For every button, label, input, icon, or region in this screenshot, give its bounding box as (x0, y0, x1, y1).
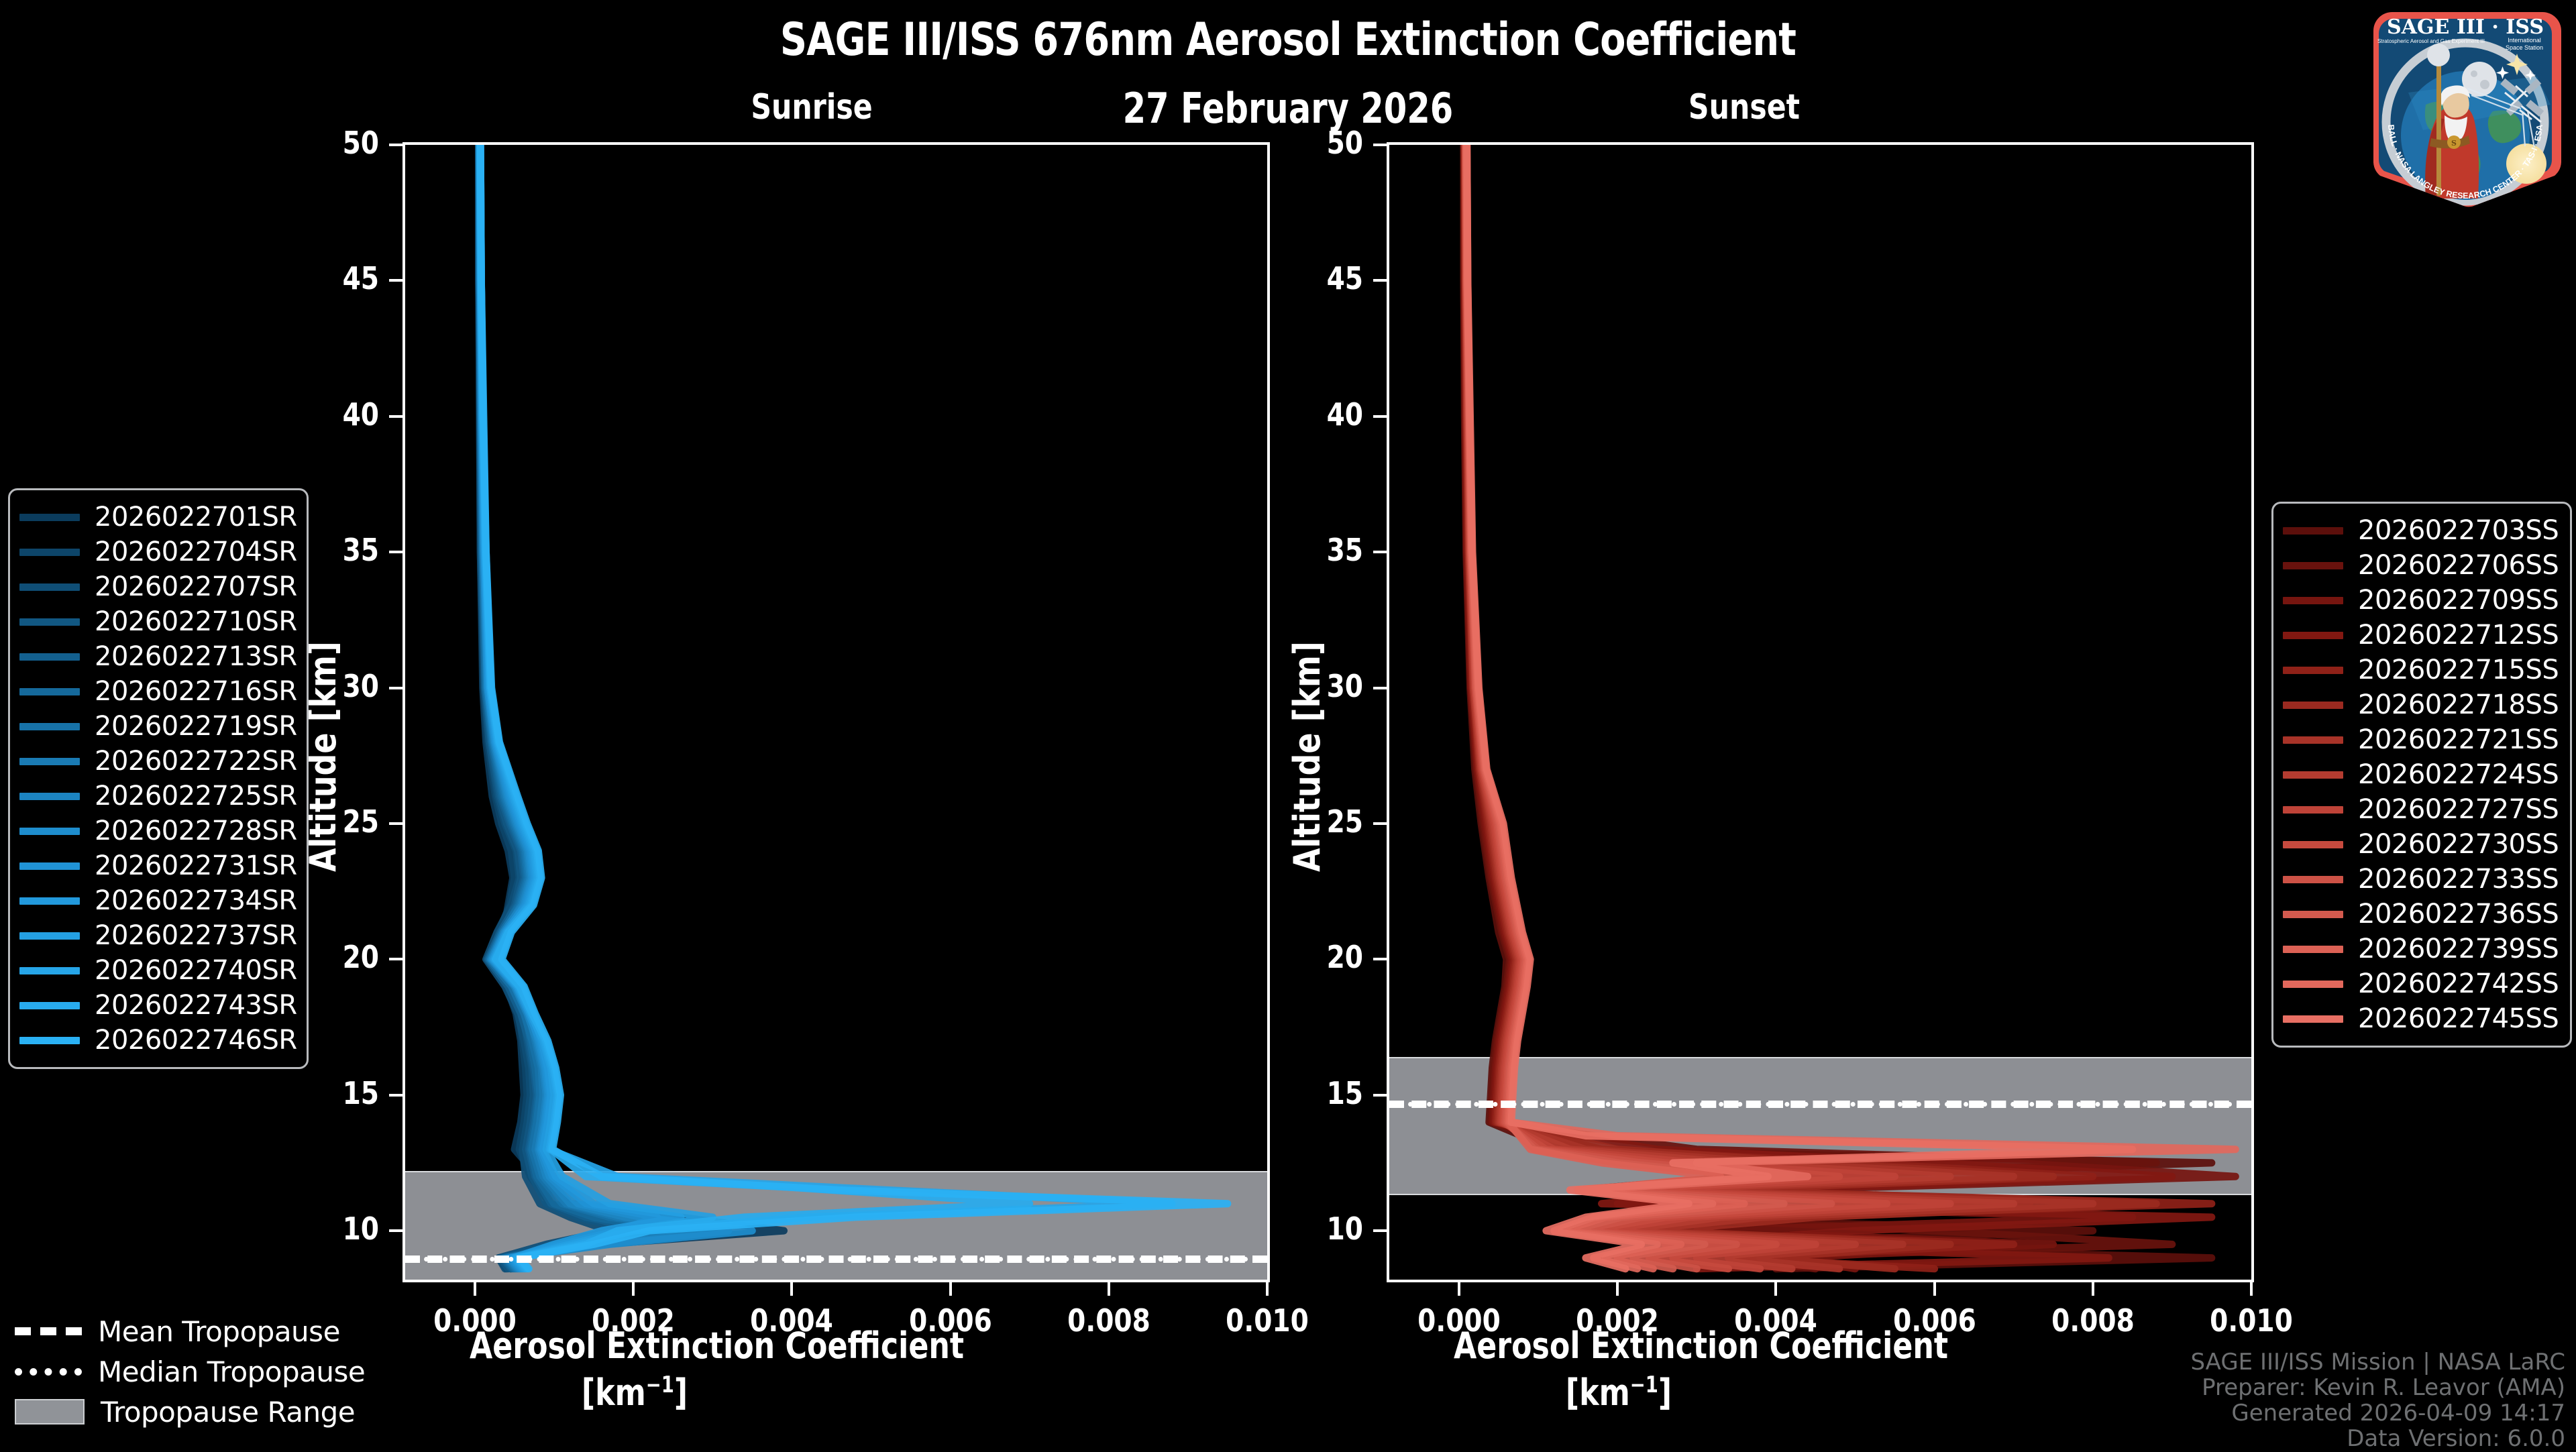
x-tick-label: 0.010 (1193, 1302, 1342, 1339)
y-tick-mark (389, 551, 402, 553)
legend-label-sunrise-event: 2026022719SR (95, 711, 297, 742)
profile-line (480, 145, 697, 1269)
legend-color-swatch (2283, 876, 2343, 883)
legend-color-swatch (19, 932, 80, 940)
sage-staff (2436, 58, 2441, 196)
legend-color-swatch (19, 688, 80, 695)
y-tick-label: 45 (1269, 260, 1363, 296)
footer-line-data-version: Data Version: 6.0.0 (2190, 1426, 2565, 1451)
legend-label-sunset-event: 2026022715SS (2358, 655, 2559, 685)
y-tick-mark (1373, 415, 1387, 418)
legend-item-sunrise-event[interactable]: 2026022719SR (19, 709, 293, 744)
page-title: SAGE III/ISS 676nm Aerosol Extinction Co… (232, 13, 2345, 66)
legend-label-sunrise-event: 2026022740SR (95, 955, 297, 986)
legend-item-sunset-event[interactable]: 2026022727SS (2283, 792, 2557, 827)
x-tick-label: 0.008 (2019, 1302, 2167, 1339)
legend-color-swatch (19, 758, 80, 765)
unit-prefix: [km (582, 1372, 646, 1414)
y-tick-mark (1373, 958, 1387, 960)
patch-title: SAGE III · ISS (2387, 15, 2544, 39)
median-tropopause-line (1389, 1102, 2251, 1107)
x-tick-mark (1616, 1282, 1619, 1296)
y-tick-mark (1373, 551, 1387, 553)
legend-label-sunset-event: 2026022721SS (2358, 724, 2559, 755)
legend-label-sunset-event: 2026022733SS (2358, 864, 2559, 895)
legend-item-sunrise-event[interactable]: 2026022704SR (19, 535, 293, 569)
legend-item-mean-tropopause: Mean Tropopause (15, 1311, 390, 1351)
legend-color-swatch (2283, 911, 2343, 918)
legend-label-sunrise-event: 2026022728SR (95, 816, 297, 846)
svg-text:S: S (2451, 139, 2457, 148)
x-tick-mark (1774, 1282, 1777, 1296)
legend-item-sunrise-event[interactable]: 2026022740SR (19, 953, 293, 988)
y-tick-mark (389, 415, 402, 418)
legend-color-swatch (2283, 1015, 2343, 1023)
y-tick-label: 40 (285, 396, 379, 433)
x-tick-mark (1458, 1282, 1460, 1296)
y-tick-mark (1373, 144, 1387, 146)
x-tick-mark (2092, 1282, 2094, 1296)
x-axis-label-sunrise: Aerosol Extinction Coefficient (470, 1325, 800, 1367)
legend-color-swatch (19, 1002, 80, 1009)
legend-sunrise[interactable]: 2026022701SR2026022704SR2026022707SR2026… (8, 488, 309, 1069)
legend-label-sunrise-event: 2026022734SR (95, 885, 297, 916)
legend-item-sunset-event[interactable]: 2026022724SS (2283, 757, 2557, 792)
x-tick-mark (1266, 1282, 1269, 1296)
x-tick-mark (949, 1282, 952, 1296)
median-tropopause-line (405, 1257, 1267, 1262)
dotted-line-icon (15, 1368, 82, 1376)
legend-item-sunset-event[interactable]: 2026022739SS (2283, 932, 2557, 966)
profile-line (480, 145, 729, 1269)
x-tick-mark (1108, 1282, 1110, 1296)
patch-subtitle-right-1: International (2508, 37, 2541, 44)
legend-label-sunrise-event: 2026022725SR (95, 781, 297, 812)
y-tick-label: 15 (285, 1075, 379, 1111)
profile-line (480, 145, 657, 1269)
x-tick-mark (2250, 1282, 2253, 1296)
legend-color-swatch (2283, 562, 2343, 569)
y-axis-label-sunset: Altitude [km] (1286, 641, 1328, 872)
x-axis-unit-sunrise: [km−1] (470, 1372, 800, 1414)
profile-line (480, 145, 712, 1269)
legend-sunset[interactable]: 2026022703SS2026022706SS2026022709SS2026… (2271, 502, 2572, 1048)
legend-label-sunrise-event: 2026022716SR (95, 676, 297, 707)
profile-line (480, 145, 1228, 1269)
shaded-band-icon (15, 1399, 85, 1425)
y-tick-label: 10 (285, 1211, 379, 1247)
legend-item-sunrise-event[interactable]: 2026022725SR (19, 779, 293, 814)
legend-label-sunrise-event: 2026022707SR (95, 571, 297, 602)
footer-line-mission: SAGE III/ISS Mission | NASA LaRC (2190, 1349, 2565, 1375)
legend-item-sunrise-event[interactable]: 2026022731SR (19, 848, 293, 883)
panel-title-sunset: Sunset (1629, 87, 1860, 127)
legend-item-sunset-event[interactable]: 2026022709SS (2283, 583, 2557, 618)
legend-label-sunrise-event: 2026022704SR (95, 537, 297, 567)
plot-area-sunset (1389, 145, 2251, 1280)
y-tick-mark (1373, 1094, 1387, 1097)
unit-prefix: [km (1566, 1372, 1630, 1414)
legend-color-swatch (19, 618, 80, 626)
legend-label-sunrise-event: 2026022722SR (95, 746, 297, 777)
legend-color-swatch (2283, 806, 2343, 814)
moon-crater (2471, 70, 2477, 77)
legend-color-swatch (2283, 667, 2343, 674)
legend-item-sunrise-event[interactable]: 2026022746SR (19, 1023, 293, 1058)
dashed-line-icon (15, 1327, 82, 1335)
legend-label-sunset-event: 2026022730SS (2358, 829, 2559, 860)
legend-item-sunset-event[interactable]: 2026022736SS (2283, 897, 2557, 932)
x-tick-mark (790, 1282, 793, 1296)
legend-color-swatch (19, 1037, 80, 1044)
profile-line (480, 145, 712, 1269)
x-tick-mark (474, 1282, 476, 1296)
unit-exponent: −1 (646, 1372, 674, 1398)
legend-color-swatch (19, 828, 80, 835)
legend-item-sunset-event[interactable]: 2026022706SS (2283, 548, 2557, 583)
legend-item-sunset-event[interactable]: 2026022745SS (2283, 1001, 2557, 1036)
legend-color-swatch (2283, 841, 2343, 848)
legend-label-sunset-event: 2026022703SS (2358, 515, 2559, 546)
legend-item-sunrise-event[interactable]: 2026022734SR (19, 883, 293, 918)
sage-iii-iss-mission-patch-logo: S BALL · NASA LANGLEY RESEARCH CENTER · … (2361, 4, 2569, 212)
legend-item-sunset-event[interactable]: 2026022712SS (2283, 618, 2557, 653)
legend-color-swatch (19, 723, 80, 730)
y-tick-mark (389, 144, 402, 146)
legend-color-swatch (2283, 946, 2343, 953)
legend-color-swatch (2283, 632, 2343, 639)
legend-item-sunrise-event[interactable]: 2026022713SR (19, 639, 293, 674)
y-tick-mark (389, 1229, 402, 1232)
x-tick-mark (1933, 1282, 1936, 1296)
legend-item-sunrise-event[interactable]: 2026022737SR (19, 918, 293, 953)
legend-color-swatch (2283, 736, 2343, 744)
y-tick-label: 35 (1269, 532, 1363, 568)
x-axis-label-sunset: Aerosol Extinction Coefficient (1454, 1325, 1784, 1367)
legend-color-swatch (19, 583, 80, 591)
legend-label-sunset-event: 2026022718SS (2358, 689, 2559, 720)
legend-color-swatch (19, 862, 80, 870)
footer-credits: SAGE III/ISS Mission | NASA LaRC Prepare… (2190, 1349, 2565, 1451)
series-lines (405, 145, 1267, 1280)
legend-item-median-tropopause: Median Tropopause (15, 1351, 390, 1392)
legend-label-median-tropopause: Median Tropopause (98, 1355, 365, 1388)
patch-subtitle-right-2: Space Station (2506, 44, 2543, 51)
y-tick-mark (389, 687, 402, 689)
y-tick-label: 15 (1269, 1075, 1363, 1111)
legend-label-mean-tropopause: Mean Tropopause (98, 1315, 340, 1348)
y-tick-label: 50 (285, 125, 379, 161)
legend-label-sunset-event: 2026022706SS (2358, 550, 2559, 581)
profile-line (480, 145, 681, 1269)
y-tick-label: 20 (1269, 939, 1363, 975)
legend-label-tropopause-range: Tropopause Range (101, 1396, 355, 1429)
plot-panel-sunrise (402, 142, 1270, 1282)
legend-color-swatch (2283, 981, 2343, 988)
legend-label-sunset-event: 2026022712SS (2358, 620, 2559, 651)
plot-panel-sunset (1387, 142, 2254, 1282)
y-tick-mark (1373, 279, 1387, 282)
legend-item-sunset-event[interactable]: 2026022703SS (2283, 513, 2557, 548)
y-tick-label: 45 (285, 260, 379, 296)
legend-color-swatch (2283, 702, 2343, 709)
legend-item-sunset-event[interactable]: 2026022721SS (2283, 722, 2557, 757)
y-tick-mark (1373, 1229, 1387, 1232)
legend-label-sunrise-event: 2026022743SR (95, 990, 297, 1021)
legend-label-sunset-event: 2026022739SS (2358, 934, 2559, 964)
legend-item-sunrise-event[interactable]: 2026022707SR (19, 569, 293, 604)
legend-item-sunrise-event[interactable]: 2026022701SR (19, 500, 293, 535)
legend-item-sunrise-event[interactable]: 2026022716SR (19, 674, 293, 709)
legend-color-swatch (19, 514, 80, 521)
y-tick-mark (389, 1094, 402, 1097)
x-tick-mark (632, 1282, 635, 1296)
legend-label-sunrise-event: 2026022701SR (95, 502, 297, 533)
unit-suffix: ] (674, 1372, 688, 1414)
legend-item-sunrise-event[interactable]: 2026022710SR (19, 604, 293, 639)
y-tick-mark (1373, 822, 1387, 825)
moon-crater (2480, 80, 2489, 89)
legend-item-sunset-event[interactable]: 2026022730SS (2283, 827, 2557, 862)
x-axis-unit-sunset: [km−1] (1454, 1372, 1784, 1414)
legend-label-sunrise-event: 2026022746SR (95, 1025, 297, 1056)
legend-item-sunrise-event[interactable]: 2026022722SR (19, 744, 293, 779)
legend-item-sunset-event[interactable]: 2026022715SS (2283, 653, 2557, 687)
legend-label-sunset-event: 2026022724SS (2358, 759, 2559, 790)
legend-label-sunrise-event: 2026022737SR (95, 920, 297, 951)
unit-exponent: −1 (1630, 1372, 1658, 1398)
legend-item-sunset-event[interactable]: 2026022742SS (2283, 966, 2557, 1001)
series-lines (1389, 145, 2251, 1280)
legend-color-swatch (19, 653, 80, 661)
legend-label-sunrise-event: 2026022710SR (95, 606, 297, 637)
legend-item-sunrise-event[interactable]: 2026022743SR (19, 988, 293, 1023)
legend-item-sunset-event[interactable]: 2026022718SS (2283, 687, 2557, 722)
legend-color-swatch (2283, 597, 2343, 604)
legend-color-swatch (2283, 527, 2343, 535)
footer-line-generated: Generated 2026-04-09 14:17 (2190, 1400, 2565, 1426)
legend-color-swatch (2283, 771, 2343, 779)
y-tick-label: 50 (1269, 125, 1363, 161)
x-tick-label: 0.008 (1034, 1302, 1183, 1339)
patch-subtitle-left: Stratospheric Aerosol and Gas Experiment… (2377, 38, 2485, 44)
footer-line-preparer: Preparer: Kevin R. Leavor (AMA) (2190, 1375, 2565, 1400)
legend-item-sunset-event[interactable]: 2026022733SS (2283, 862, 2557, 897)
legend-item-tropopause-range: Tropopause Range (15, 1392, 390, 1432)
legend-label-sunset-event: 2026022727SS (2358, 794, 2559, 825)
y-tick-mark (389, 822, 402, 825)
legend-label-sunset-event: 2026022745SS (2358, 1003, 2559, 1034)
unit-suffix: ] (1658, 1372, 1672, 1414)
staff-orb (2427, 44, 2450, 66)
panel-title-sunrise: Sunrise (696, 87, 927, 127)
legend-label-sunset-event: 2026022736SS (2358, 899, 2559, 930)
legend-color-swatch (19, 549, 80, 556)
profile-line (480, 145, 1172, 1269)
profile-line (479, 145, 673, 1269)
y-tick-mark (389, 279, 402, 282)
x-tick-label: 0.010 (2178, 1302, 2326, 1339)
legend-tropopause: Mean Tropopause Median Tropopause Tropop… (15, 1311, 390, 1432)
legend-color-swatch (19, 967, 80, 974)
legend-label-sunset-event: 2026022742SS (2358, 968, 2559, 999)
plot-area-sunrise (405, 145, 1267, 1280)
y-tick-mark (1373, 687, 1387, 689)
legend-color-swatch (19, 793, 80, 800)
legend-item-sunrise-event[interactable]: 2026022728SR (19, 814, 293, 848)
legend-color-swatch (19, 897, 80, 905)
profile-line (480, 145, 657, 1269)
legend-label-sunrise-event: 2026022731SR (95, 850, 297, 881)
legend-label-sunset-event: 2026022709SS (2358, 585, 2559, 616)
y-tick-label: 10 (1269, 1211, 1363, 1247)
y-tick-mark (389, 958, 402, 960)
y-tick-label: 40 (1269, 396, 1363, 433)
legend-label-sunrise-event: 2026022713SR (95, 641, 297, 672)
